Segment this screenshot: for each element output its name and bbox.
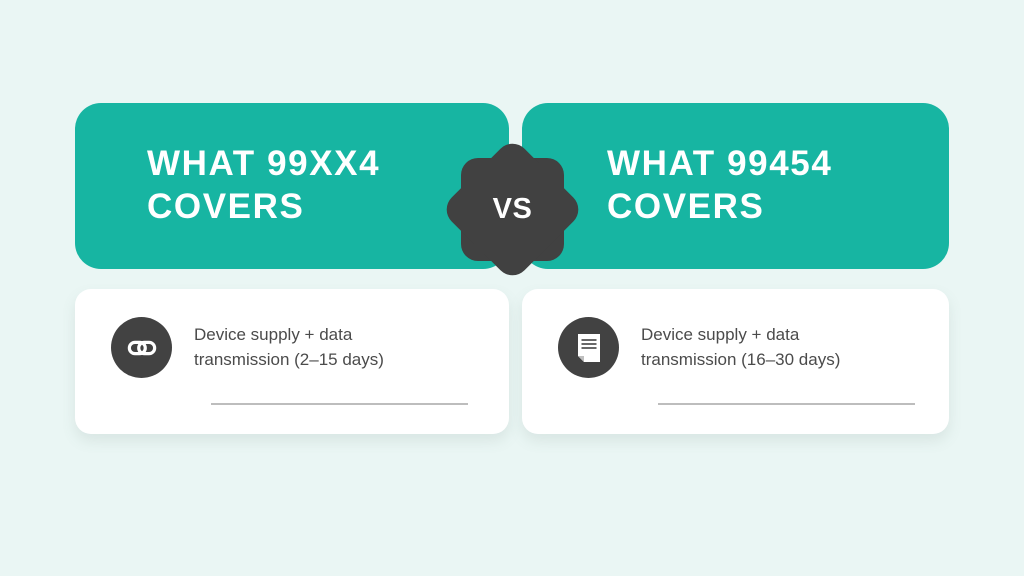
versus-badge: VS bbox=[461, 158, 564, 261]
left-header-banner: WHAT 99XX4 COVERS bbox=[75, 103, 509, 269]
chain-link-icon bbox=[111, 317, 172, 378]
left-header-title: WHAT 99XX4 COVERS bbox=[147, 143, 380, 228]
left-card-row: Device supply + data transmission (2–15 … bbox=[111, 317, 479, 378]
comparison-infographic: WHAT 99XX4 COVERS WHAT 99454 COVERS VS D… bbox=[0, 0, 1024, 576]
left-content-card: Device supply + data transmission (2–15 … bbox=[75, 289, 509, 434]
left-card-text: Device supply + data transmission (2–15 … bbox=[194, 323, 384, 371]
right-header-banner: WHAT 99454 COVERS bbox=[522, 103, 949, 269]
left-card-divider bbox=[211, 403, 468, 405]
document-icon bbox=[558, 317, 619, 378]
right-card-divider bbox=[658, 403, 915, 405]
right-header-title: WHAT 99454 COVERS bbox=[607, 143, 832, 228]
versus-badge-label: VS bbox=[493, 193, 533, 226]
right-card-row: Device supply + data transmission (16–30… bbox=[558, 317, 919, 378]
right-content-card: Device supply + data transmission (16–30… bbox=[522, 289, 949, 434]
right-card-text: Device supply + data transmission (16–30… bbox=[641, 323, 840, 371]
